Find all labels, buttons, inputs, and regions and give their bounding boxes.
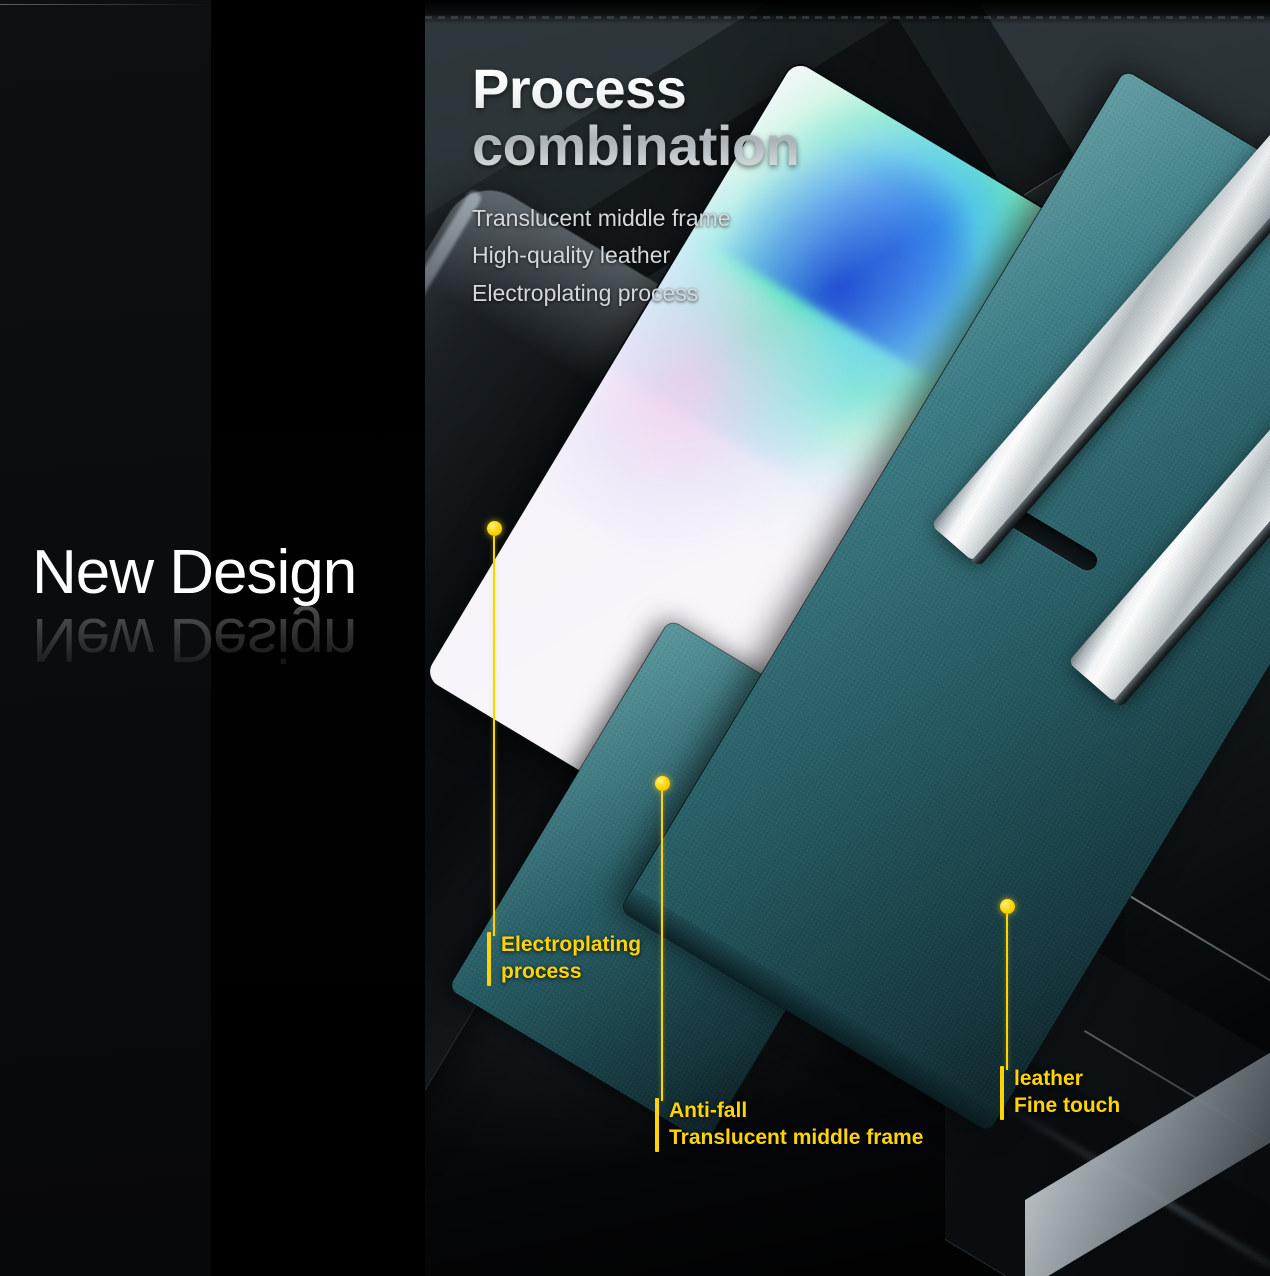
feature-item-3: Electroplating process (472, 275, 731, 312)
callout-anti-fall-line-2: Translucent middle frame (669, 1125, 923, 1152)
brand-wordmark: New Design (32, 537, 356, 608)
callout-dot-anti-fall (655, 776, 670, 791)
callout-leather: leather Fine touch (1000, 1066, 1120, 1120)
callout-leader-electroplating (493, 536, 495, 936)
feature-item-1: Translucent middle frame (472, 200, 731, 237)
product-scene: NEW DESIGN (425, 0, 1270, 1276)
brand-wordmark-reflection: New Design (32, 604, 356, 675)
product-banner: NEW DESIGN Process combination Transluce… (0, 0, 1270, 1276)
headline: Process combination (472, 60, 799, 174)
feature-item-2: High-quality leather (472, 237, 731, 274)
callout-bar-leather (1000, 1066, 1004, 1120)
callout-bar-anti-fall (655, 1098, 659, 1152)
callout-leather-line-2: Fine touch (1014, 1093, 1120, 1120)
headline-line-1: Process (472, 57, 686, 120)
callout-text-anti-fall: Anti-fall Translucent middle frame (669, 1098, 923, 1152)
callout-electroplating: Electroplating process (487, 932, 641, 986)
callout-electroplating-line-2: process (501, 959, 641, 986)
callout-leader-leather (1006, 914, 1008, 1070)
callout-leather-line-1: leather (1014, 1066, 1120, 1093)
callout-anti-fall: Anti-fall Translucent middle frame (655, 1098, 923, 1152)
callout-text-leather: leather Fine touch (1014, 1066, 1120, 1120)
callout-dot-electroplating (487, 521, 502, 536)
callout-electroplating-line-1: Electroplating (501, 932, 641, 959)
headline-line-2: combination (472, 117, 799, 174)
callout-bar-electroplating (487, 932, 491, 986)
feature-list: Translucent middle frame High-quality le… (472, 200, 731, 312)
callout-anti-fall-line-1: Anti-fall (669, 1098, 923, 1125)
callout-leader-anti-fall (661, 791, 663, 1101)
callout-text-electroplating: Electroplating process (501, 932, 641, 986)
callout-dot-leather (1000, 899, 1015, 914)
